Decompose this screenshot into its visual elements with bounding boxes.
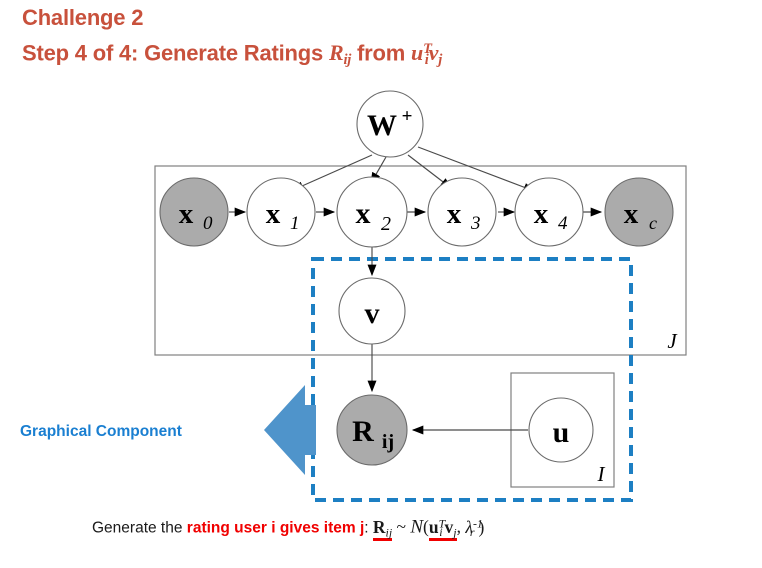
node-v[interactable]: v [339, 278, 405, 344]
caption-cal-n: N [410, 517, 423, 538]
graphical-model-diagram: J I W + x 0 [0, 0, 762, 568]
caption: Generate the rating user i gives item j:… [92, 516, 752, 540]
node-xc-circle[interactable] [605, 178, 673, 246]
node-x3-subscript: 3 [470, 213, 481, 234]
node-x2-subscript: 2 [381, 213, 391, 235]
node-v-label: v [365, 297, 380, 330]
caption-lead: Generate the [92, 520, 187, 537]
node-x0[interactable]: x 0 [160, 178, 228, 246]
caption-lambda-sub: r [470, 525, 475, 539]
slide-canvas: Challenge 2 Step 4 of 4: Generate Rating… [0, 0, 762, 568]
node-x1-circle[interactable] [247, 178, 315, 246]
node-x0-subscript: 0 [203, 213, 213, 234]
node-x1[interactable]: x 1 [247, 178, 315, 246]
node-u-label: u [553, 416, 570, 449]
node-x2-circle[interactable] [337, 177, 407, 247]
callout-arrow-icon [264, 385, 316, 475]
caption-colon: : [364, 520, 373, 537]
callout-label: Graphical Component [20, 423, 182, 440]
node-x3-circle[interactable] [428, 178, 496, 246]
caption-lambda: λ-1r [465, 517, 474, 537]
node-x0-circle[interactable] [160, 178, 228, 246]
caption-highlight: rating user i gives item j [187, 520, 364, 537]
plate-j-label: J [667, 329, 678, 353]
caption-formula-v-base: v [445, 517, 454, 537]
node-rij[interactable]: R ij [337, 395, 407, 465]
node-x1-subscript: 1 [290, 213, 300, 234]
node-x0-label: x [179, 198, 194, 230]
node-x3-label: x [447, 198, 462, 230]
node-xc-subscript: c [649, 213, 657, 233]
node-w-plus-label: W [367, 109, 397, 142]
caption-formula-uv: uTivj [429, 517, 457, 541]
node-w-plus[interactable]: W + [357, 91, 423, 157]
node-x4-circle[interactable] [515, 178, 583, 246]
plate-i-label: I [597, 462, 606, 486]
node-x2-label: x [356, 197, 371, 230]
node-x2[interactable]: x 2 [337, 177, 407, 247]
node-rij-label: R [352, 415, 374, 448]
node-u[interactable]: u [529, 398, 593, 462]
caption-sim: ~ [392, 517, 410, 537]
node-x4[interactable]: x 4 [515, 178, 583, 246]
node-x1-label: x [266, 198, 281, 230]
caption-formula-r-base: R [373, 517, 386, 537]
node-x4-subscript: 4 [558, 213, 568, 234]
node-rij-subscript: ij [382, 431, 394, 453]
caption-formula-r: Rij [373, 517, 392, 541]
caption-formula-u-base: u [429, 517, 439, 537]
node-x3[interactable]: x 3 [428, 178, 496, 246]
caption-formula-u-sub: i [439, 525, 442, 539]
node-w-plus-superscript: + [402, 106, 413, 127]
caption-close-paren: ) [478, 517, 484, 537]
node-x4-label: x [534, 198, 549, 230]
node-xc-label: x [624, 198, 639, 230]
node-xc[interactable]: x c [605, 178, 673, 246]
